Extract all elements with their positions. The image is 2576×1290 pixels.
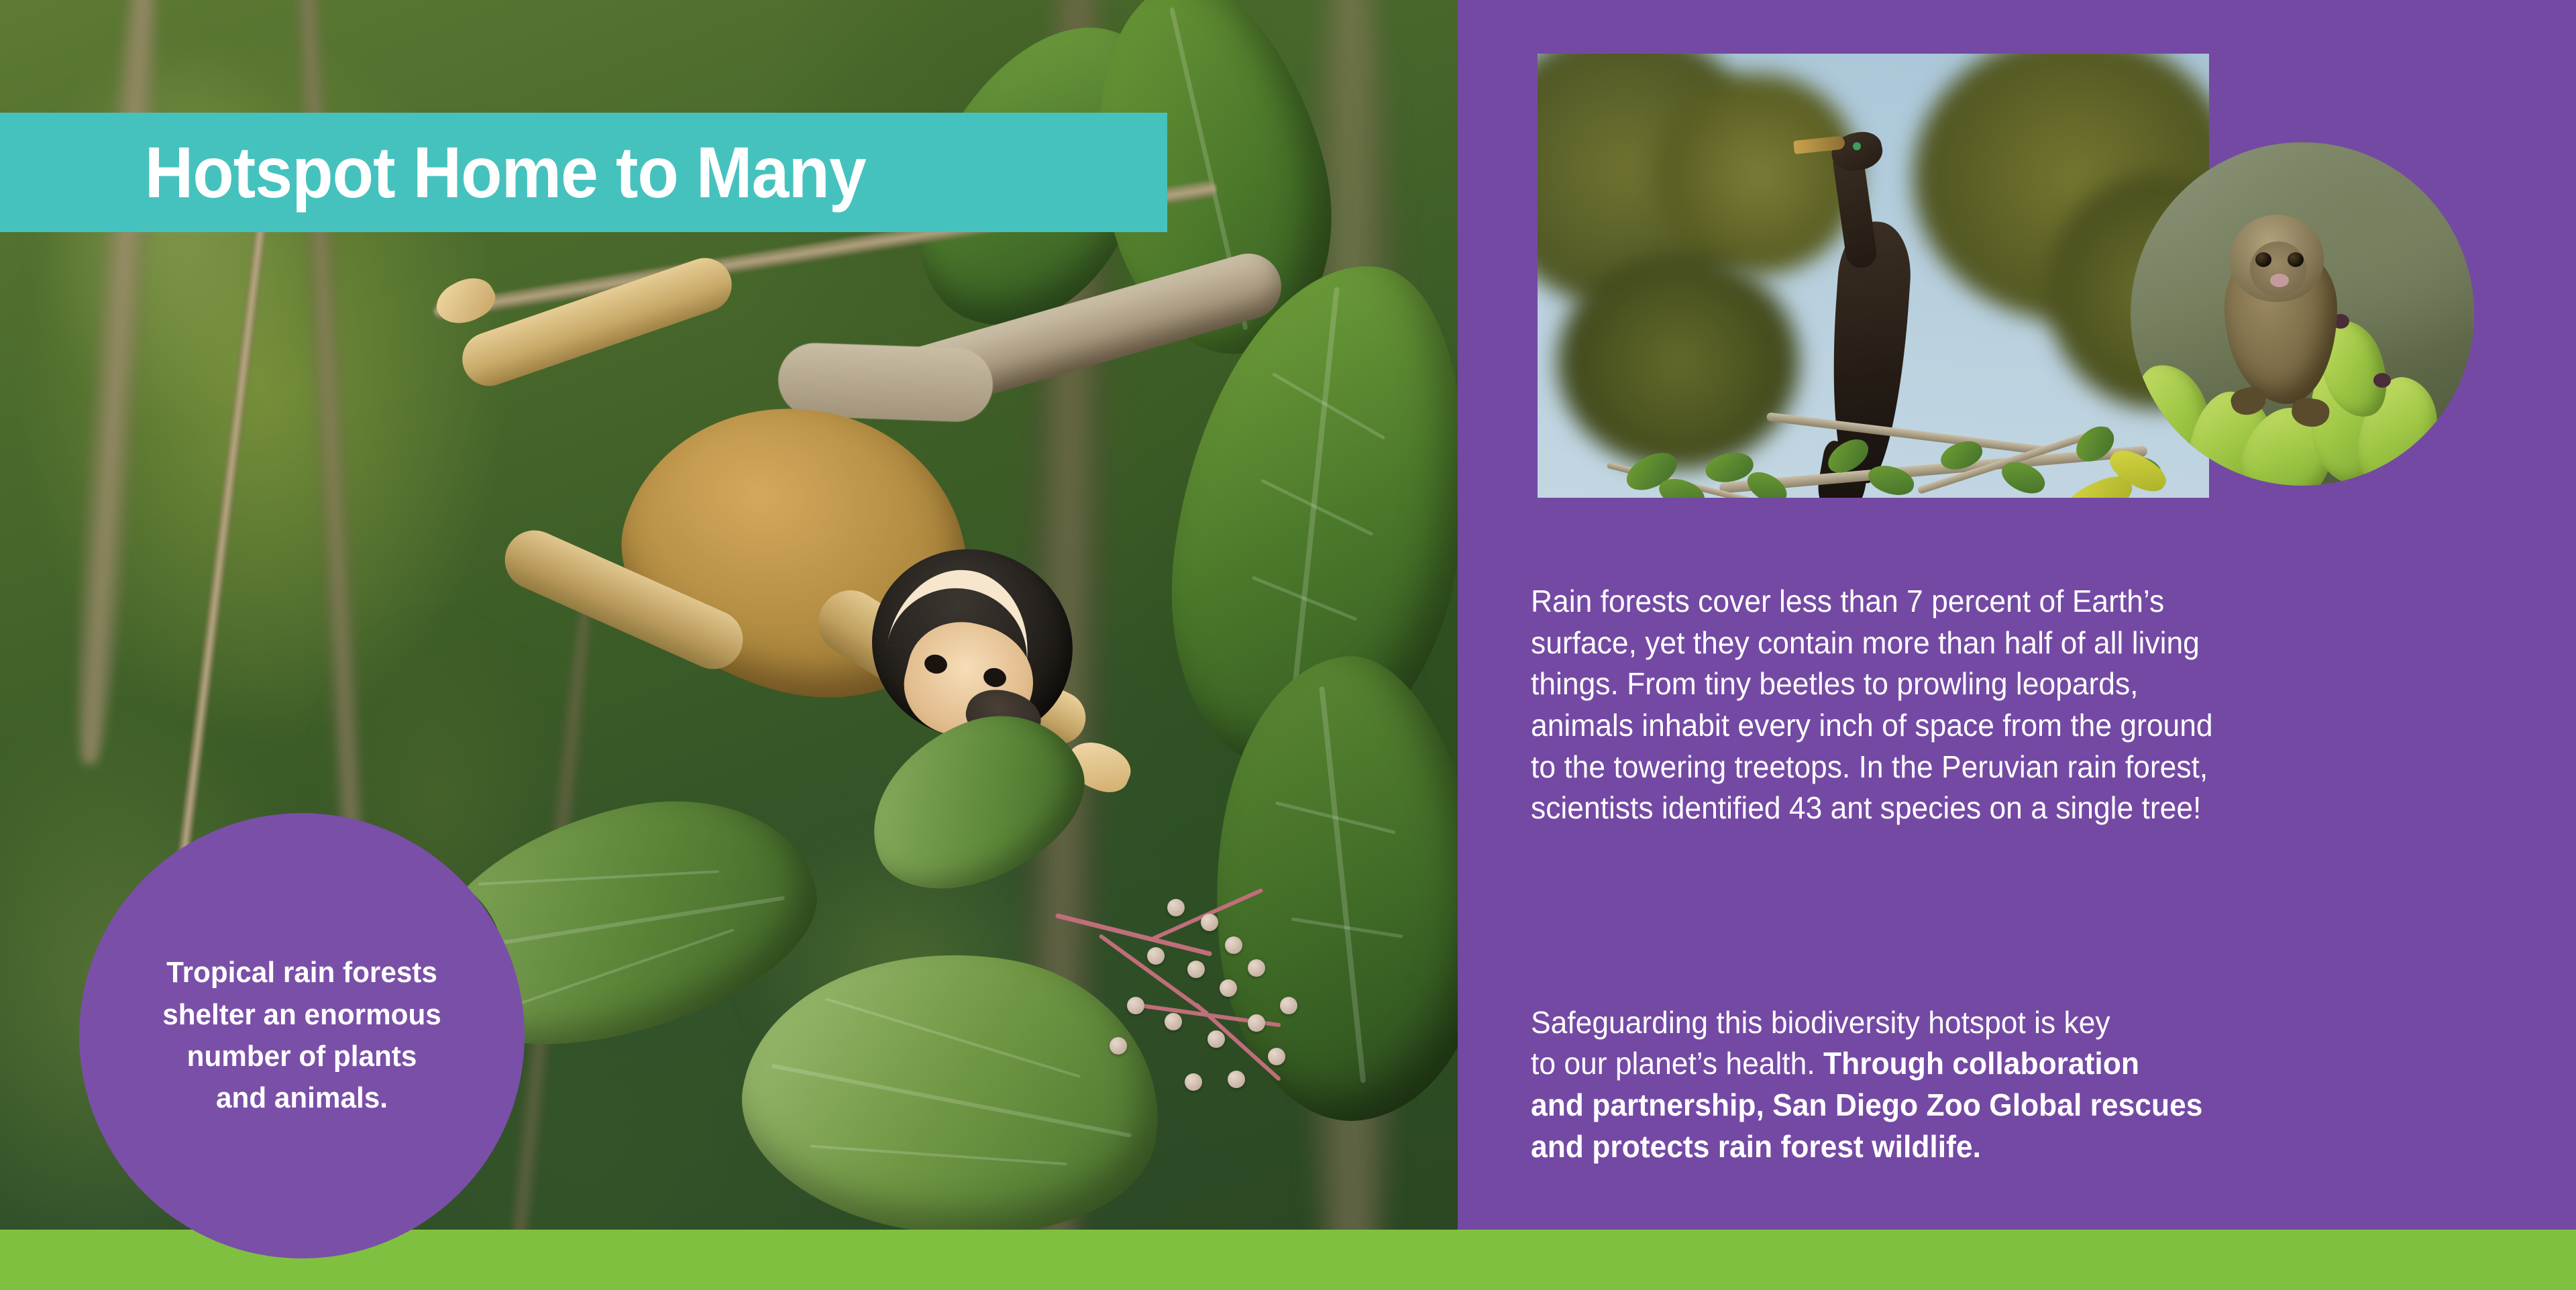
pygmy-marmoset-on-bananas-photo: [2131, 142, 2474, 486]
monkey-left-arm: [455, 251, 739, 393]
marmoset-muzzle: [2270, 274, 2289, 287]
background-tree: [1558, 255, 1799, 470]
background-tree: [1658, 74, 1860, 275]
title-banner: Hotspot Home to Many: [0, 113, 1167, 232]
callout-text: Tropical rain forests shelter an enormou…: [121, 952, 482, 1120]
bird-eye: [1853, 142, 1861, 150]
callout-circle: Tropical rain forests shelter an enormou…: [79, 813, 525, 1258]
marmoset-eye: [2288, 252, 2304, 267]
monkey-left-hand: [430, 269, 502, 333]
marmoset-face: [2250, 241, 2306, 297]
marmoset-eye: [2255, 252, 2271, 267]
banana-tip: [2373, 373, 2391, 388]
infographic-page: Hotspot Home to Many Tropical rain fores…: [0, 0, 2576, 1290]
body-paragraph-1: Rain forests cover less than 7 percent o…: [1531, 581, 2489, 829]
berry-cluster: [1046, 872, 1335, 1127]
page-title: Hotspot Home to Many: [0, 136, 866, 209]
body-paragraph-2: Safeguarding this biodiversity hotspot i…: [1531, 961, 2489, 1167]
cormorant-bird-photo: [1538, 54, 2209, 498]
